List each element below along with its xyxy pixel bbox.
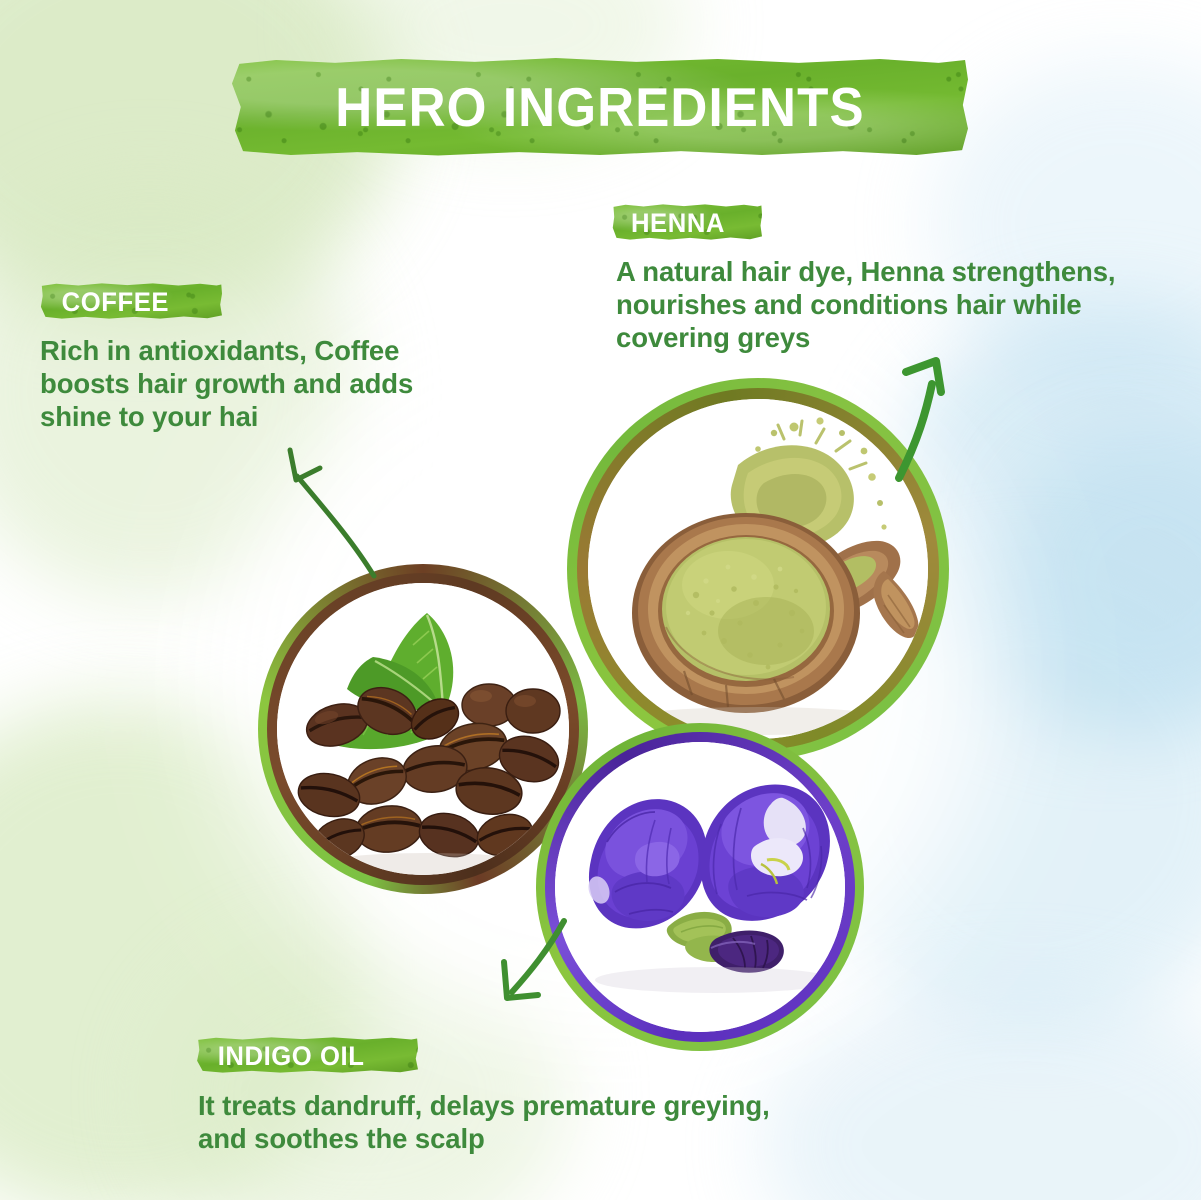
coffee-photo-mask: [277, 583, 569, 875]
indigo-label-chip: INDIGO OIL: [196, 1037, 418, 1073]
coffee-image-circle: [258, 564, 588, 894]
indigo-description: It treats dandruff, delays premature gre…: [198, 1089, 778, 1155]
indigo-label: INDIGO OIL: [202, 1037, 413, 1072]
indigo-image-circle: [536, 723, 864, 1051]
green-wash-top-left: [0, 0, 400, 320]
henna-powder-image: [588, 399, 928, 739]
henna-image-circle: [567, 378, 949, 760]
blue-wash-right-edge: [1000, 430, 1201, 730]
arrow-coffee: [290, 450, 374, 576]
coffee-description: Rich in antioxidants, Coffee boosts hair…: [40, 334, 470, 433]
page-title: HERO INGREDIENTS: [258, 58, 942, 156]
coffee-beans-image: [277, 583, 569, 875]
hero-title-banner: HERO INGREDIENTS: [232, 58, 968, 156]
coffee-label: COFFEE: [45, 283, 218, 318]
infographic-canvas: HERO INGREDIENTS COFFEE Rich in antioxid…: [0, 0, 1201, 1200]
henna-description: A natural hair dye, Henna strengthens, n…: [616, 255, 1176, 354]
henna-label-chip: HENNA: [612, 204, 762, 240]
henna-photo-mask: [588, 399, 928, 739]
henna-label: HENNA: [616, 204, 759, 239]
butterfly-pea-flowers-image: [555, 742, 845, 1032]
coffee-label-chip: COFFEE: [40, 283, 222, 319]
indigo-photo-mask: [555, 742, 845, 1032]
